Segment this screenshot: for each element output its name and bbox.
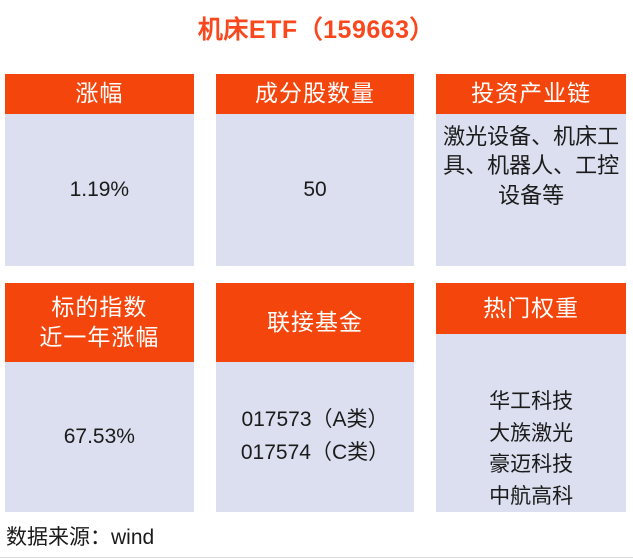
card-feeder-fund-header: 联接基金	[216, 283, 415, 362]
info-row-2: 标的指数 近一年涨幅 67.53% 联接基金 017573（A类） 017574…	[5, 283, 626, 512]
card-change-value: 1.19%	[5, 114, 194, 266]
card-index-year-change-header: 标的指数 近一年涨幅	[5, 283, 194, 362]
card-top-weights: 热门权重 华工科技 大族激光 豪迈科技 中航高科	[436, 283, 626, 512]
card-change-header: 涨幅	[5, 74, 194, 114]
footer-divider	[0, 557, 633, 558]
footer: 数据来源：wind	[0, 512, 633, 559]
card-constituents: 成分股数量 50	[216, 74, 415, 266]
card-industry-chain-header: 投资产业链	[436, 74, 626, 114]
card-feeder-fund: 联接基金 017573（A类） 017574（C类）	[216, 283, 415, 512]
card-constituents-value: 50	[216, 114, 415, 266]
data-source-label: 数据来源：wind	[0, 521, 154, 551]
card-top-weights-value: 华工科技 大族激光 豪迈科技 中航高科	[436, 334, 626, 512]
card-change: 涨幅 1.19%	[5, 74, 194, 266]
card-feeder-fund-value: 017573（A类） 017574（C类）	[216, 362, 415, 512]
card-index-year-change: 标的指数 近一年涨幅 67.53%	[5, 283, 194, 512]
card-top-weights-header: 热门权重	[436, 283, 626, 334]
card-industry-chain: 投资产业链 激光设备、机床工具、机器人、工控设备等	[436, 74, 626, 266]
card-index-year-change-value: 67.53%	[5, 362, 194, 512]
etf-info-card: 机床ETF（159663） 涨幅 1.19% 成分股数量 50 投资产业链 激光…	[0, 0, 633, 559]
page-title-bar: 机床ETF（159663）	[0, 0, 633, 56]
card-industry-chain-value: 激光设备、机床工具、机器人、工控设备等	[436, 114, 626, 266]
page-title: 机床ETF（159663）	[198, 10, 435, 46]
info-row-1: 涨幅 1.19% 成分股数量 50 投资产业链 激光设备、机床工具、机器人、工控…	[5, 74, 626, 266]
info-grid: 涨幅 1.19% 成分股数量 50 投资产业链 激光设备、机床工具、机器人、工控…	[5, 74, 626, 512]
card-constituents-header: 成分股数量	[216, 74, 415, 114]
